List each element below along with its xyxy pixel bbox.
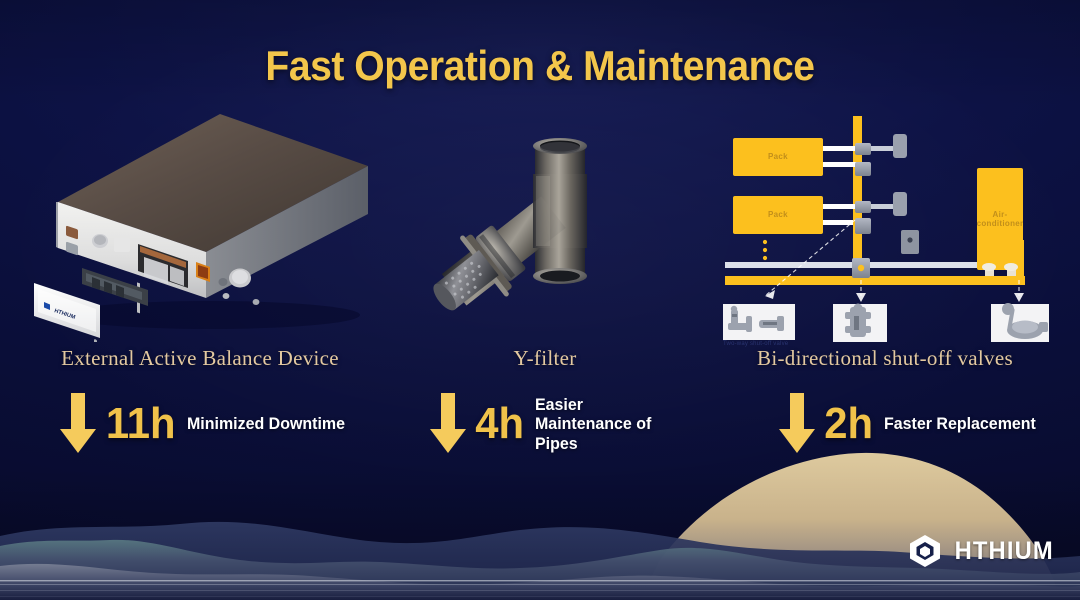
hours-value-1: 11h [106, 402, 176, 446]
brand-logo: HTHIUM [908, 534, 1056, 568]
column-bidirectional-shutoff-valves: Pack Pack Air-conditioner Two-way shut-o… [705, 110, 1065, 455]
brand-wordmark: HTHIUM [954, 537, 1053, 566]
hours-value-3: 2h [824, 402, 873, 446]
caption-column-3: Bi-directional shut-off valves [705, 346, 1065, 371]
hours-value-2: 4h [475, 402, 524, 446]
handle-valve-group [871, 134, 907, 216]
air-conditioner-label-wrap: Air-conditioner [977, 168, 1023, 270]
rack-device-illustration: HTHIUM [20, 110, 380, 342]
stat-row-1: 11h Minimized Downtime [58, 393, 380, 455]
pack-label-2-wrap: Pack [733, 196, 823, 234]
detached-faceplate: HTHIUM [34, 283, 100, 342]
column-y-filter: Y-filter 4h Easier Maintenance of Pipes [400, 110, 690, 455]
down-arrow-icon [428, 393, 468, 455]
pack-label-1: Pack [733, 138, 823, 176]
column-external-active-balance-device: HTHIUM External Active Balance Device 11… [20, 110, 380, 455]
slide-title: Fast Operation & Maintenance [38, 42, 1042, 90]
down-arrow-icon [777, 393, 817, 455]
device-artwork: HTHIUM [20, 110, 380, 342]
stat-row-2: 4h Easier Maintenance of Pipes [428, 393, 690, 455]
valve-photo-1 [723, 304, 795, 340]
air-conditioner-label: Air-conditioner [977, 168, 1023, 270]
pack-label-1-wrap: Pack [733, 138, 823, 176]
y-filter-illustration [400, 116, 690, 342]
pack-label-2: Pack [733, 196, 823, 234]
caption-column-2: Y-filter [400, 346, 690, 371]
stat-row-3: 2h Faster Replacement [777, 393, 1065, 455]
stat-label-3: Faster Replacement [884, 414, 1036, 434]
caption-column-1: External Active Balance Device [20, 346, 380, 371]
header-pipe [725, 276, 1025, 285]
schematic-artwork: Pack Pack Air-conditioner Two-way shut-o… [705, 110, 1065, 342]
schematic-footnote: Two-way shut-off valve [723, 341, 788, 347]
valve-photo-3 [991, 303, 1049, 342]
slide-canvas: Fast Operation & Maintenance [0, 0, 1080, 600]
valve-photo-2 [833, 304, 887, 343]
y-filter-artwork [400, 110, 690, 342]
down-arrow-icon [58, 393, 98, 455]
ellipsis-icon [763, 240, 767, 260]
hthium-mark-icon [908, 534, 942, 568]
stat-label-1: Minimized Downtime [187, 414, 345, 434]
stat-label-2: Easier Maintenance of Pipes [535, 395, 680, 454]
